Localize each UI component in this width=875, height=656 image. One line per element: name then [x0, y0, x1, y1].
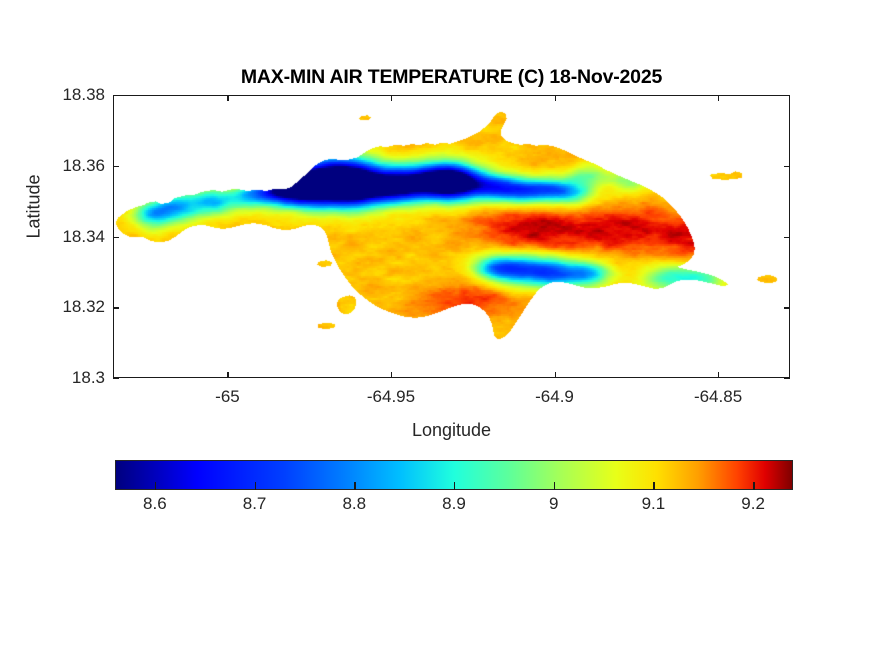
colorbar-tick-label: 8.7: [243, 494, 267, 514]
y-axis-tick: [113, 166, 119, 167]
colorbar-tick-label: 8.8: [342, 494, 366, 514]
y-axis-tick: [113, 378, 119, 379]
colorbar-tick: [753, 482, 754, 490]
colorbar-tick: [554, 482, 555, 490]
y-axis-tick: [784, 307, 790, 308]
x-axis-label: Longitude: [113, 420, 790, 441]
x-axis-tick: [718, 372, 719, 378]
x-axis-tick: [718, 95, 719, 101]
colorbar-tick: [155, 482, 156, 490]
y-axis-tick: [113, 95, 119, 96]
colorbar-tick: [454, 482, 455, 490]
y-axis-tick: [784, 378, 790, 379]
y-axis-label: Latitude: [24, 147, 45, 267]
x-axis-tick: [227, 95, 228, 101]
colorbar-tick-label: 9.1: [642, 494, 666, 514]
colorbar[interactable]: 8.68.78.88.999.19.2: [115, 460, 793, 490]
x-axis-tick: [391, 372, 392, 378]
colorbar-tick-label: 8.6: [143, 494, 167, 514]
colorbar-tick: [653, 482, 654, 490]
colorbar-tick-label: 8.9: [442, 494, 466, 514]
colorbar-tick: [255, 482, 256, 490]
y-axis-tick: [784, 166, 790, 167]
y-axis-tick: [113, 237, 119, 238]
colorbar-tick: [354, 482, 355, 490]
x-axis-tick-label: -64.95: [367, 387, 415, 407]
y-axis-tick-label: 18.3: [17, 368, 105, 388]
y-axis-tick: [784, 95, 790, 96]
x-axis-tick-label: -65: [215, 387, 240, 407]
page-title: MAX-MIN AIR TEMPERATURE (C) 18-Nov-2025: [113, 66, 790, 89]
colorbar-tick-label: 9: [549, 494, 558, 514]
colorbar-tick-label: 9.2: [741, 494, 765, 514]
y-axis-tick-label: 18.32: [17, 297, 105, 317]
map-axes[interactable]: [113, 95, 790, 378]
x-axis-tick-label: -64.9: [535, 387, 574, 407]
x-axis-tick: [555, 95, 556, 101]
heatmap-raster: [114, 96, 790, 378]
y-axis-tick: [784, 237, 790, 238]
x-axis-tick: [227, 372, 228, 378]
x-axis-tick-label: -64.85: [694, 387, 742, 407]
x-axis-tick: [555, 372, 556, 378]
y-axis-tick: [113, 307, 119, 308]
x-axis-tick: [391, 95, 392, 101]
figure-canvas: MAX-MIN AIR TEMPERATURE (C) 18-Nov-2025 …: [0, 0, 875, 656]
y-axis-tick-label: 18.38: [17, 85, 105, 105]
